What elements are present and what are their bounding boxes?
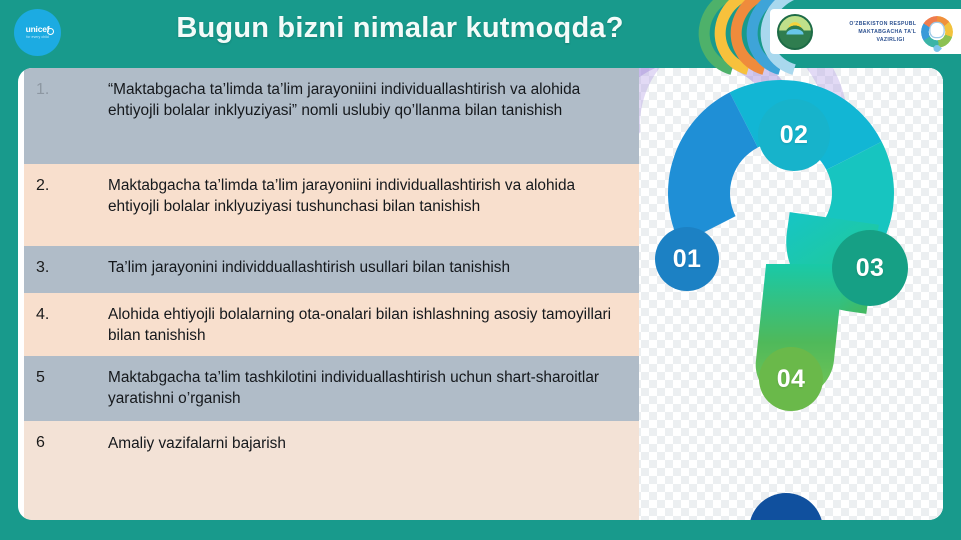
row-text: “Maktabgacha ta’limda ta’lim jarayoniini… [108,68,639,164]
table-row[interactable]: 2. Maktabgacha ta’limda ta’lim jarayonii… [24,164,639,246]
slide: unicef for every child Bugun bizni nimal… [0,0,961,540]
table-row[interactable]: 6 Amaliy vazifalarni bajarish [24,421,639,520]
table-row[interactable]: 3. Ta’lim jarayonini individduallashtiri… [24,246,639,293]
hands-tree-logo [916,11,958,53]
table-row[interactable]: 1. “Maktabgacha ta’limda ta’lim jarayoni… [24,68,639,164]
row-text: Maktabgacha ta’limda ta’lim jarayoniini … [108,164,639,246]
unicef-logo: unicef for every child [14,9,61,56]
badge-02[interactable]: 02 [758,99,830,171]
row-number: 3. [24,246,108,293]
page-title: Bugun bizni nimalar kutmoqda? [110,12,690,45]
row-number: 4. [24,293,108,356]
table-row[interactable]: 5 Maktabgacha ta’lim tashkilotini indivi… [24,356,639,421]
row-number: 5 [24,356,108,421]
slide-header: unicef for every child Bugun bizni nimal… [0,0,961,62]
question-mark-infographic: 01 02 03 04 05 [633,68,943,520]
row-number: 2. [24,164,108,246]
row-number: 1. [24,68,108,164]
row-text: Amaliy vazifalarni bajarish [108,421,639,520]
unicef-emblem-icon [47,28,54,35]
badge-04[interactable]: 04 [759,347,823,411]
unicef-wordmark: unicef [26,25,50,34]
badge-05[interactable]: 05 [749,493,823,520]
unicef-tagline: for every child [26,35,49,40]
table-row[interactable]: 4. Alohida ehtiyojli bolalarning ota-ona… [24,293,639,356]
badge-01[interactable]: 01 [655,227,719,291]
row-text: Ta’lim jarayonini individduallashtirish … [108,246,639,293]
row-number: 6 [24,421,108,520]
badge-03[interactable]: 03 [832,230,908,306]
uzbekistan-emblem-icon [777,14,813,50]
content-card: 01 02 03 04 05 1. “Maktabgacha ta’limda … [18,68,943,520]
hand-icon [931,23,944,37]
agenda-table: 1. “Maktabgacha ta’limda ta’lim jarayoni… [24,68,639,520]
header-right-cluster: O'ZBEKISTON RESPUBLIKASI MAKTABGACHA TA'… [696,0,961,62]
row-text: Alohida ehtiyojli bolalarning ota-onalar… [108,293,639,356]
row-text: Maktabgacha ta’lim tashkilotini individu… [108,356,639,421]
